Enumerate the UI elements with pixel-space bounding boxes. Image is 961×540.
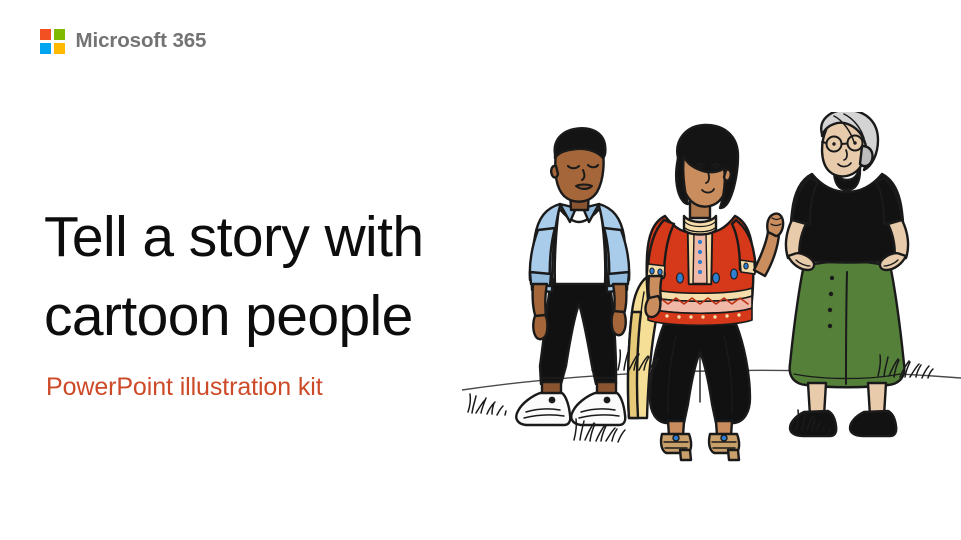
white-tshirt	[555, 208, 606, 284]
skirt-center-pleat	[846, 272, 847, 384]
left-hand	[533, 315, 547, 339]
green-square	[54, 29, 65, 40]
hair-bun	[860, 146, 873, 166]
brand-name-label: Microsoft 365	[76, 29, 207, 53]
left-hand	[645, 296, 660, 317]
three-cartoon-people-illustration	[448, 112, 961, 512]
left-forearm	[533, 284, 547, 318]
right-cuff-motifs	[744, 263, 748, 269]
page-subtitle: PowerPoint illustration kit	[46, 373, 514, 402]
figure-older-woman	[786, 112, 908, 436]
left-ear	[551, 166, 558, 178]
headline-block: Tell a story with cartoon people PowerPo…	[44, 198, 514, 402]
placket-border-right	[706, 232, 712, 284]
blue-square	[40, 43, 51, 54]
right-sandal	[709, 434, 739, 460]
left-sneaker-logo	[549, 397, 556, 404]
right-hand	[612, 311, 626, 335]
right-sneaker-logo	[604, 397, 611, 404]
left-sandal	[661, 434, 691, 460]
microsoft-four-squares-logo	[40, 29, 65, 54]
right-ear	[724, 170, 731, 181]
illustration-svg	[448, 112, 961, 512]
placket-border-left	[688, 232, 694, 284]
page-title: Tell a story with cartoon people	[44, 198, 514, 355]
microsoft-365-brand-lockup: Microsoft 365	[40, 29, 206, 54]
grass-tuft-1	[468, 394, 506, 415]
figure-woman-in-kurta	[628, 125, 783, 460]
kurta-hem-bands	[648, 288, 752, 325]
mouth	[576, 185, 592, 190]
left-pupil	[698, 165, 702, 169]
left-pupil	[832, 142, 835, 145]
yellow-square	[54, 43, 65, 54]
right-forearm	[613, 284, 626, 314]
right-pupil	[853, 141, 856, 144]
right-forearm	[754, 232, 779, 276]
right-flat	[850, 411, 896, 436]
right-pupil	[714, 165, 718, 169]
slide-canvas: Microsoft 365 Tell a story with cartoon …	[0, 0, 961, 540]
red-square	[40, 29, 51, 40]
